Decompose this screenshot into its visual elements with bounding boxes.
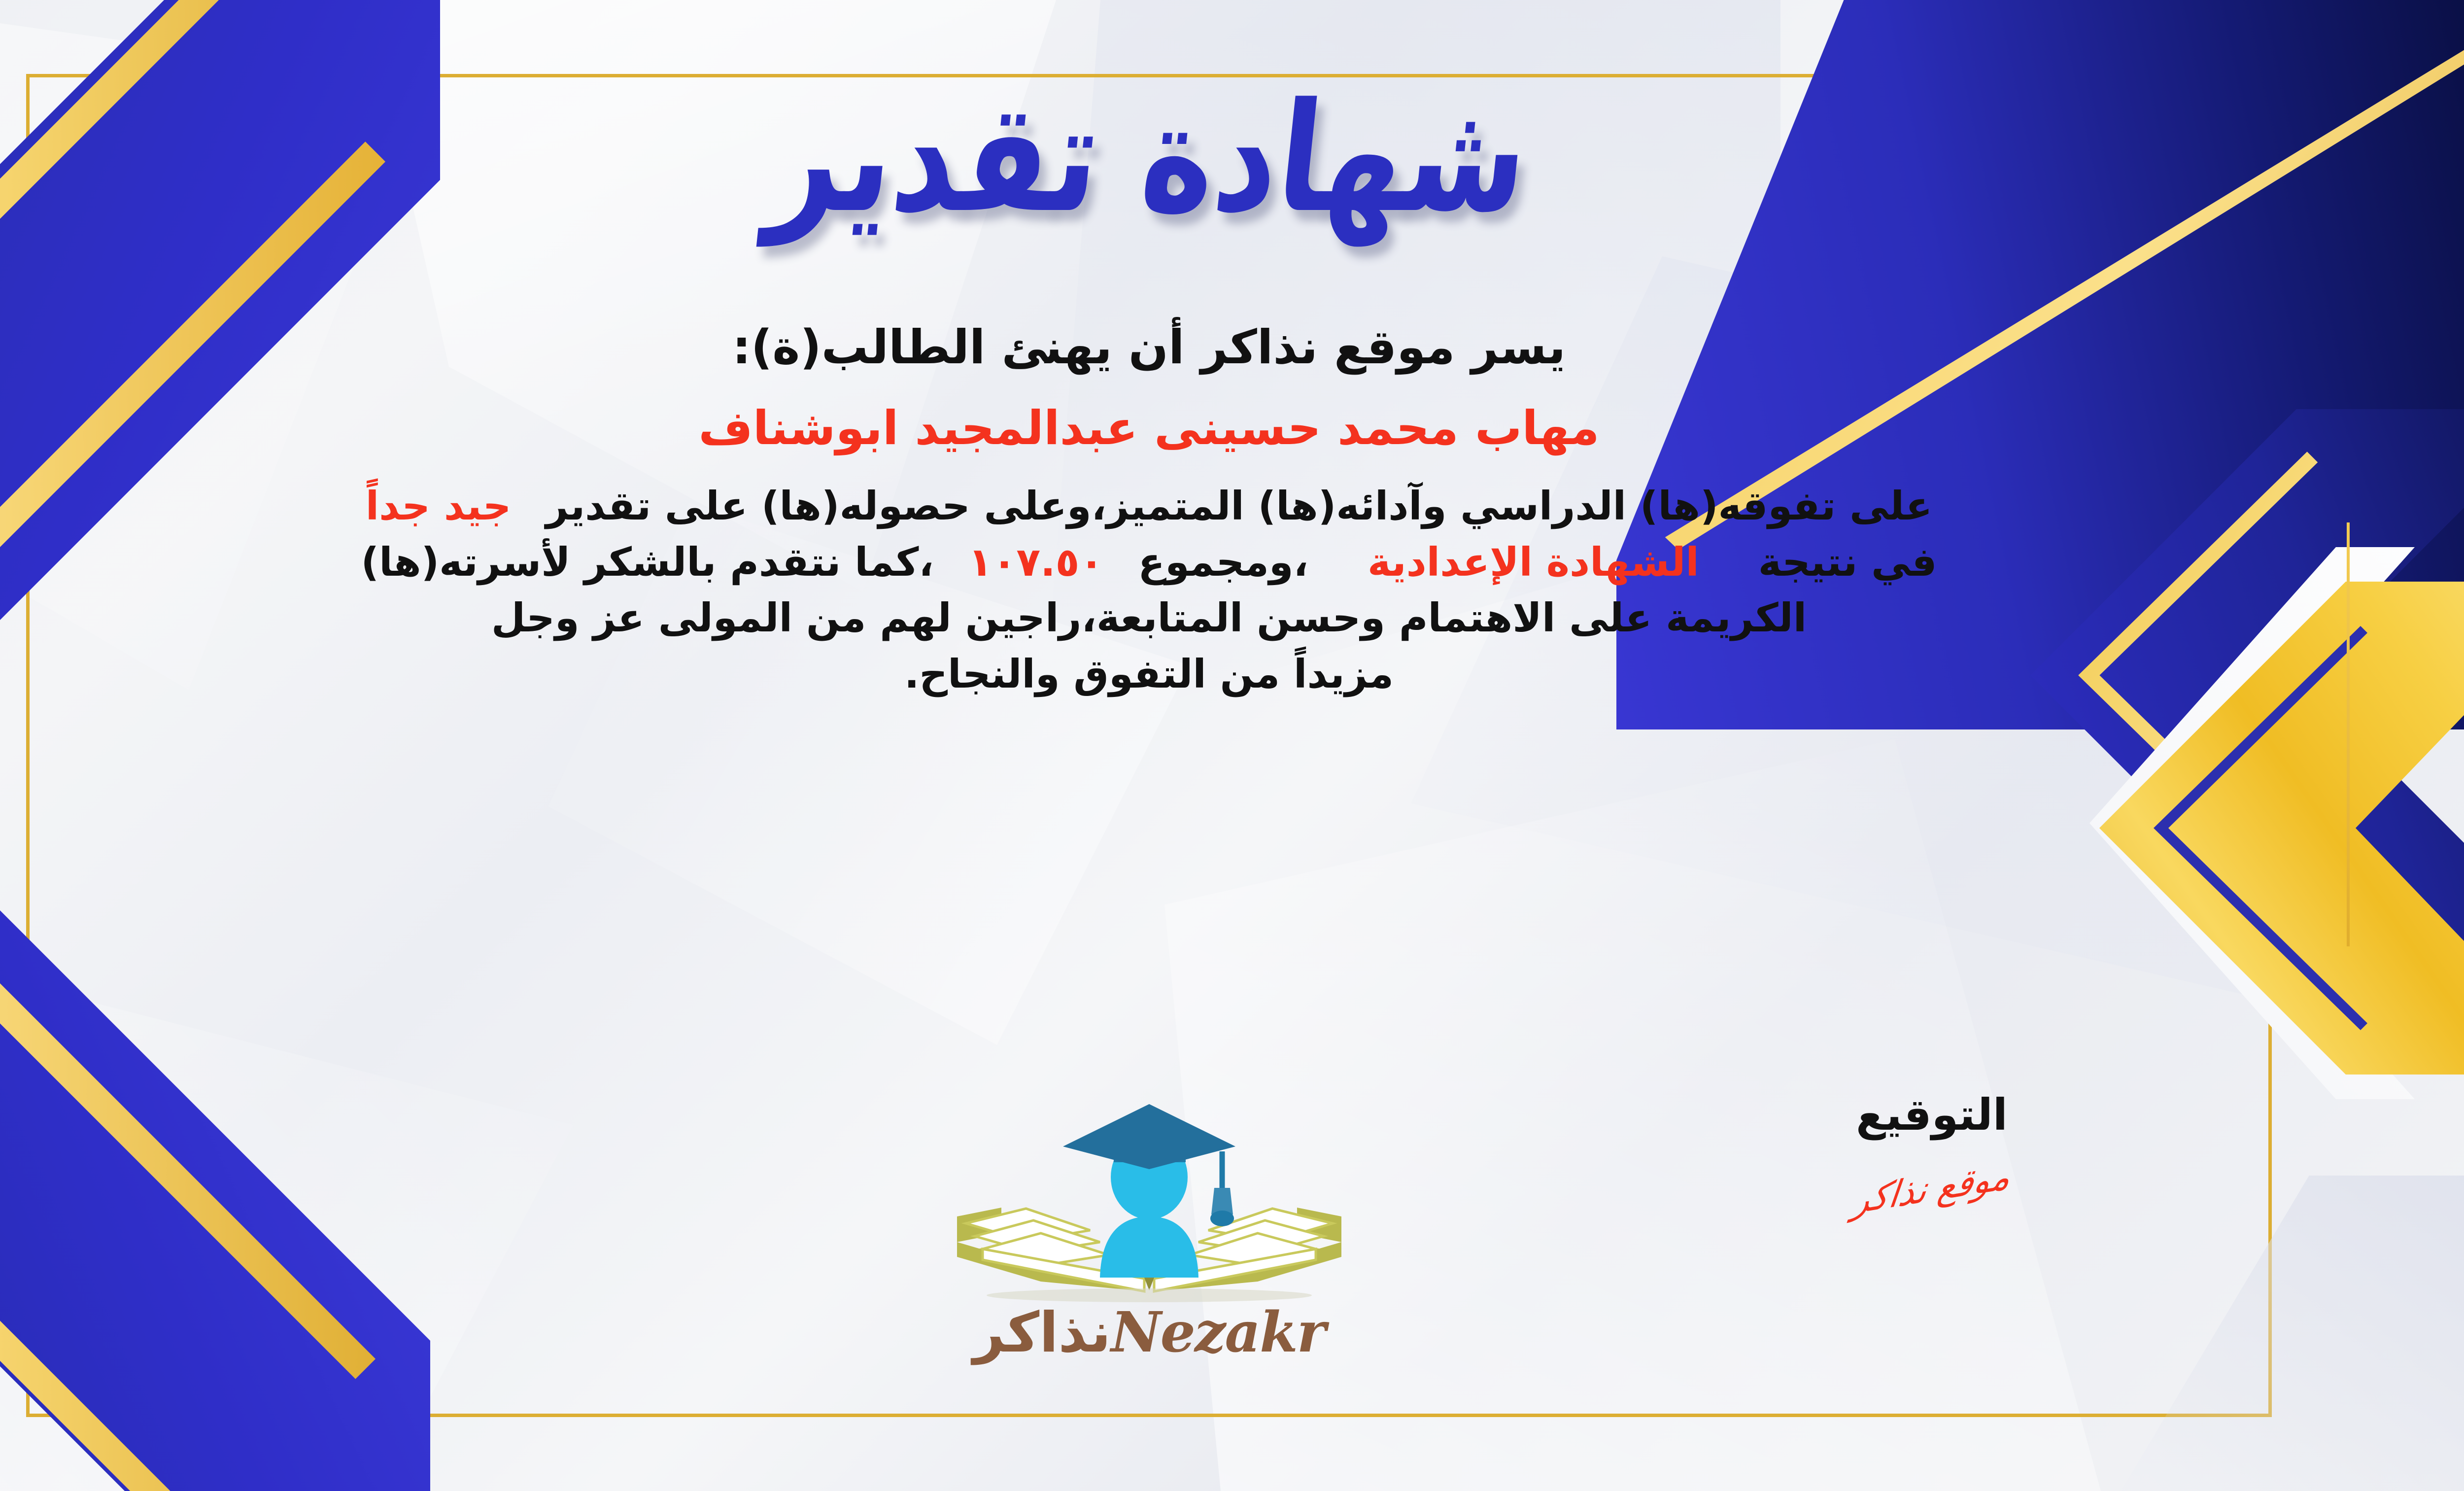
- certificate-footer: التوقيع موقع نذاكر: [0, 1089, 2464, 1405]
- body-line-2-middle: ،ومجموع: [1138, 539, 1308, 585]
- body-line-3: الكريمة على الاهتمام وحسن المتابعة،راجين…: [45, 590, 2253, 646]
- body-line-1-text: على تفوقه(ها) الدراسي وآدائه(ها) المتميز…: [546, 483, 1932, 529]
- logo-arabic-text: نذاكر: [973, 1301, 1111, 1365]
- certificate-page: شهادة تقدير يسر موقع نذاكر أن يهنئ الطال…: [0, 0, 2464, 1491]
- body-line-4: مزيداً من التفوق والنجاح.: [45, 646, 2253, 702]
- body-line-2-suffix: ،كما نتقدم بالشكر لأسرته(ها): [361, 539, 934, 585]
- body-line-2-prefix: في نتيجة: [1758, 539, 1937, 585]
- signature-handwriting: موقع نذاكر: [1850, 1154, 2013, 1222]
- graduate-book-logo-icon: [927, 1094, 1371, 1306]
- signature-label: التوقيع: [1774, 1089, 2089, 1140]
- logo-wordmark: Nezakrنذاكر: [927, 1300, 1371, 1365]
- exam-name: الشهادة الإعدادية: [1368, 539, 1699, 585]
- brand-logo: Nezakrنذاكر: [927, 1094, 1371, 1365]
- body-line-2: في نتيجةالشهادة الإعدادية،ومجموع١٠٧.٥٠،ك…: [45, 534, 2253, 590]
- logo-latin-text: Nezakr: [1111, 1300, 1325, 1365]
- greeting-line: يسر موقع نذاكر أن يهنئ الطالب(ة):: [732, 320, 1566, 375]
- grade-value: جيد جداً: [366, 483, 512, 529]
- student-name: مهاب محمد حسينى عبدالمجيد ابوشناف: [698, 401, 1599, 455]
- signature-block: التوقيع موقع نذاكر: [1774, 1089, 2089, 1209]
- certificate-title-wrap: شهادة تقدير: [0, 84, 2464, 232]
- page-title: شهادة تقدير: [761, 70, 1537, 245]
- total-score: ١٠٧.٥٠: [968, 539, 1104, 585]
- certificate-body: على تفوقه(ها) الدراسي وآدائه(ها) المتميز…: [45, 478, 2253, 702]
- body-line-1: على تفوقه(ها) الدراسي وآدائه(ها) المتميز…: [45, 478, 2253, 534]
